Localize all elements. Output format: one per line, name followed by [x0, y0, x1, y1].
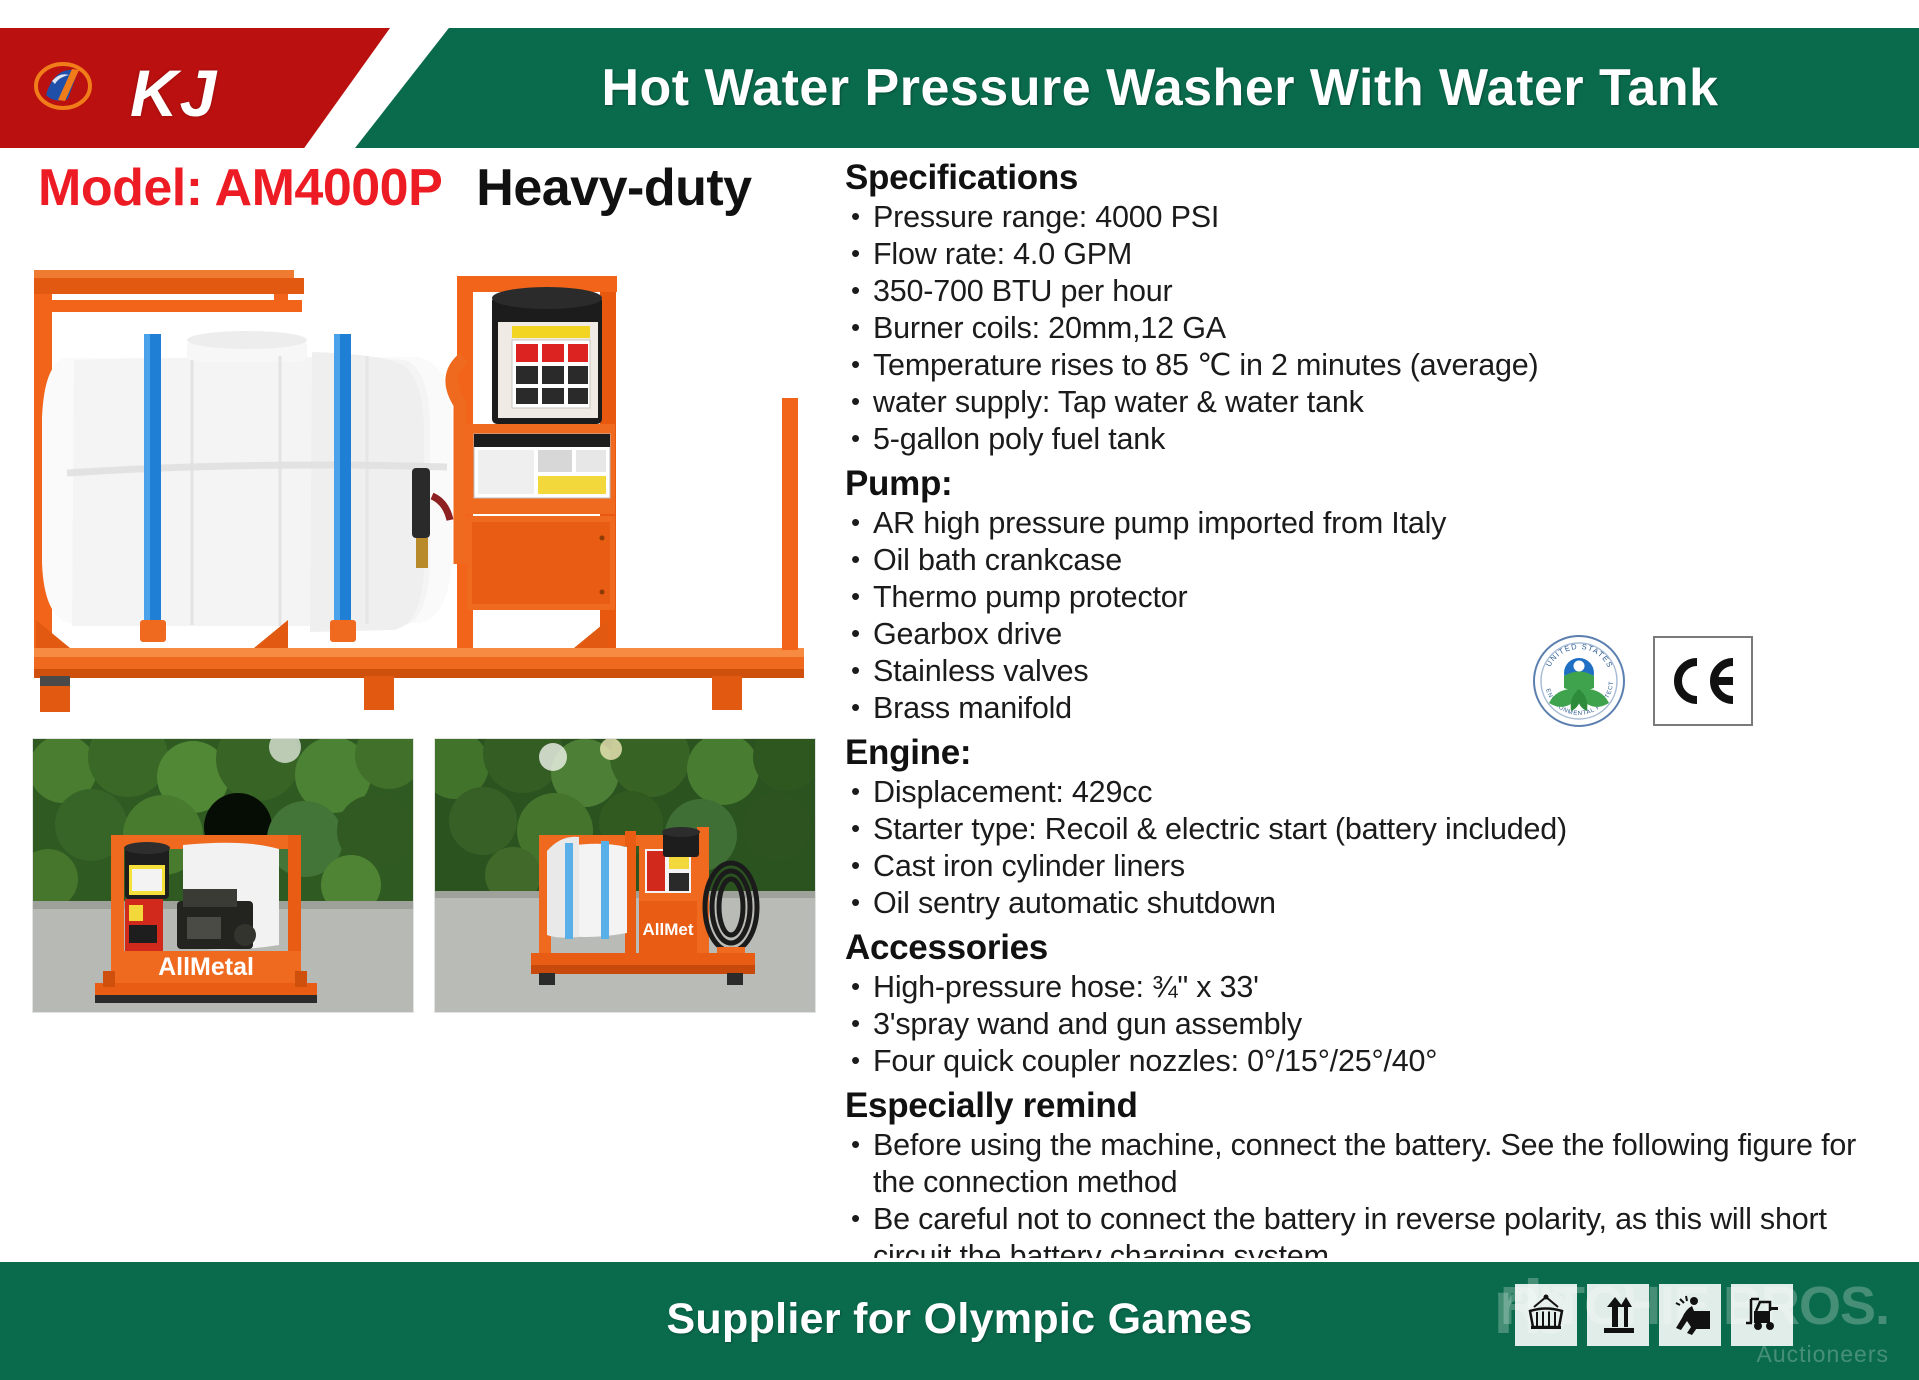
- section-heading: Engine:: [845, 733, 1905, 773]
- section-list: Before using the machine, connect the ba…: [845, 1127, 1905, 1275]
- list-item: Before using the machine, connect the ba…: [845, 1127, 1905, 1201]
- list-item: Burner coils: 20mm,12 GA: [845, 310, 1905, 347]
- list-item: Four quick coupler nozzles: 0°/15°/25°/4…: [845, 1043, 1905, 1080]
- this-way-up-icon: [1587, 1284, 1649, 1346]
- page-header: KJ Hot Water Pressure Washer With Water …: [0, 28, 1919, 148]
- section-list: High-pressure hose: ¾" x 33' 3'spray wan…: [845, 969, 1905, 1080]
- certification-badges: UNITED STATES ENVIRONMENTAL PROTECTION A…: [1531, 633, 1753, 729]
- thumbnail-angled-illustration: AllMet: [435, 739, 815, 1012]
- list-item: 5-gallon poly fuel tank: [845, 421, 1905, 458]
- model-number: Model: AM4000P: [38, 158, 442, 218]
- thumbnail-front-view[interactable]: AllMetal: [32, 738, 414, 1013]
- list-item: Oil bath crankcase: [845, 542, 1905, 579]
- section-heading: Specifications: [845, 158, 1905, 198]
- sling-lifting-icon: [1515, 1284, 1577, 1346]
- page-footer: rb RITCHIE BROS. Auctioneers Supplier fo…: [0, 1258, 1919, 1380]
- section-heading: Accessories: [845, 928, 1905, 968]
- epa-seal-icon: UNITED STATES ENVIRONMENTAL PROTECTION A…: [1531, 633, 1627, 729]
- shipping-pictograms: [1515, 1284, 1793, 1346]
- section-accessories: Accessories High-pressure hose: ¾" x 33'…: [845, 928, 1905, 1080]
- list-item: Starter type: Recoil & electric start (b…: [845, 811, 1905, 848]
- page-title: Hot Water Pressure Washer With Water Tan…: [430, 28, 1890, 148]
- section-engine: Engine: Displacement: 429cc Starter type…: [845, 733, 1905, 922]
- section-heading: Especially remind: [845, 1086, 1905, 1126]
- list-item: Pressure range: 4000 PSI: [845, 199, 1905, 236]
- section-especially-remind: Especially remind Before using the machi…: [845, 1086, 1905, 1275]
- thumbnail-angled-view[interactable]: AllMet: [434, 738, 816, 1013]
- list-item: 350-700 BTU per hour: [845, 273, 1905, 310]
- list-item: water supply: Tap water & water tank: [845, 384, 1905, 421]
- section-list: Displacement: 429cc Starter type: Recoil…: [845, 774, 1905, 922]
- list-item: Cast iron cylinder liners: [845, 848, 1905, 885]
- hero-product-image: [12, 248, 822, 728]
- list-item: Oil sentry automatic shutdown: [845, 885, 1905, 922]
- list-item: Displacement: 429cc: [845, 774, 1905, 811]
- ce-mark-icon: [1653, 636, 1753, 726]
- svg-text:AllMet: AllMet: [643, 920, 694, 939]
- thumbnail-front-illustration: AllMetal: [33, 739, 413, 1012]
- model-line: Model: AM4000P Heavy-duty: [38, 158, 752, 218]
- duty-class-label: Heavy-duty: [476, 158, 751, 218]
- section-heading: Pump:: [845, 464, 1905, 504]
- list-item: Flow rate: 4.0 GPM: [845, 236, 1905, 273]
- forklift-icon: [1731, 1284, 1793, 1346]
- section-specifications: Specifications Pressure range: 4000 PSI …: [845, 158, 1905, 458]
- list-item: 3'spray wand and gun assembly: [845, 1006, 1905, 1043]
- svg-text:AllMetal: AllMetal: [158, 953, 254, 981]
- section-list: Pressure range: 4000 PSI Flow rate: 4.0 …: [845, 199, 1905, 458]
- list-item: High-pressure hose: ¾" x 33': [845, 969, 1905, 1006]
- list-item: Thermo pump protector: [845, 579, 1905, 616]
- kj-circular-emblem-icon: [32, 55, 94, 117]
- list-item: AR high pressure pump imported from Ital…: [845, 505, 1905, 542]
- list-item: Temperature rises to 85 ℃ in 2 minutes (…: [845, 347, 1905, 384]
- hero-illustration: [12, 248, 822, 728]
- brand-wordmark: KJ: [130, 62, 218, 124]
- product-spec-sheet: KJ Hot Water Pressure Washer With Water …: [0, 0, 1919, 1380]
- thumbnail-gallery: AllMetal: [32, 738, 822, 1018]
- do-not-stack-person-icon: [1659, 1284, 1721, 1346]
